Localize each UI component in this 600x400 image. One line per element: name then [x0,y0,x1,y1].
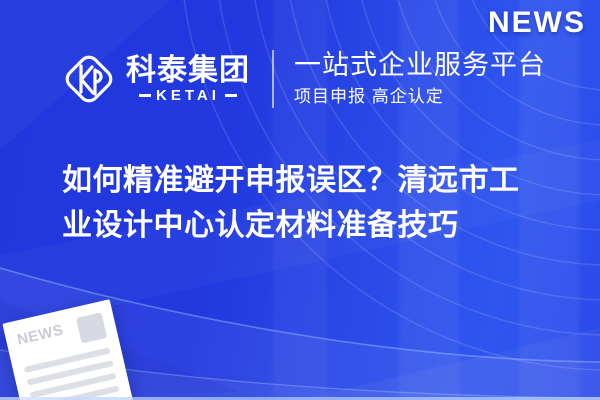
brand-name-en: KETAI [156,88,220,103]
news-banner: NEWS 科泰集团 KETAI [0,0,600,400]
brand-header: 科泰集团 KETAI 一站式企业服务平台 项目申报 高企认定 [62,44,546,114]
tagline-main: 一站式企业服务平台 [294,50,546,80]
news-watermark: NEWS [488,6,586,40]
title-line-1: 如何精准避开申报误区？清远市工 [62,158,562,203]
dash-left-icon [139,94,151,97]
vertical-divider [272,50,274,108]
brand-name-cn: 科泰集团 [126,55,250,86]
dash-right-icon [225,94,237,97]
title-line-2: 业设计中心认定材料准备技巧 [62,203,562,248]
tagline-sub: 项目申报 高企认定 [294,86,546,108]
brand-name-en-row: KETAI [126,88,250,103]
newspaper-text-lines [24,347,120,400]
newspaper-heading: NEWS [16,323,65,348]
kp-monogram-icon [62,52,116,106]
page-title: 如何精准避开申报误区？清远市工 业设计中心认定材料准备技巧 [62,158,562,248]
newspaper-graphic: NEWS [2,299,135,400]
newspaper-thumbnail-icon [76,312,107,343]
tagline-block: 一站式企业服务平台 项目申报 高企认定 [294,50,546,107]
brand-wordmark: 科泰集团 KETAI [126,55,250,103]
